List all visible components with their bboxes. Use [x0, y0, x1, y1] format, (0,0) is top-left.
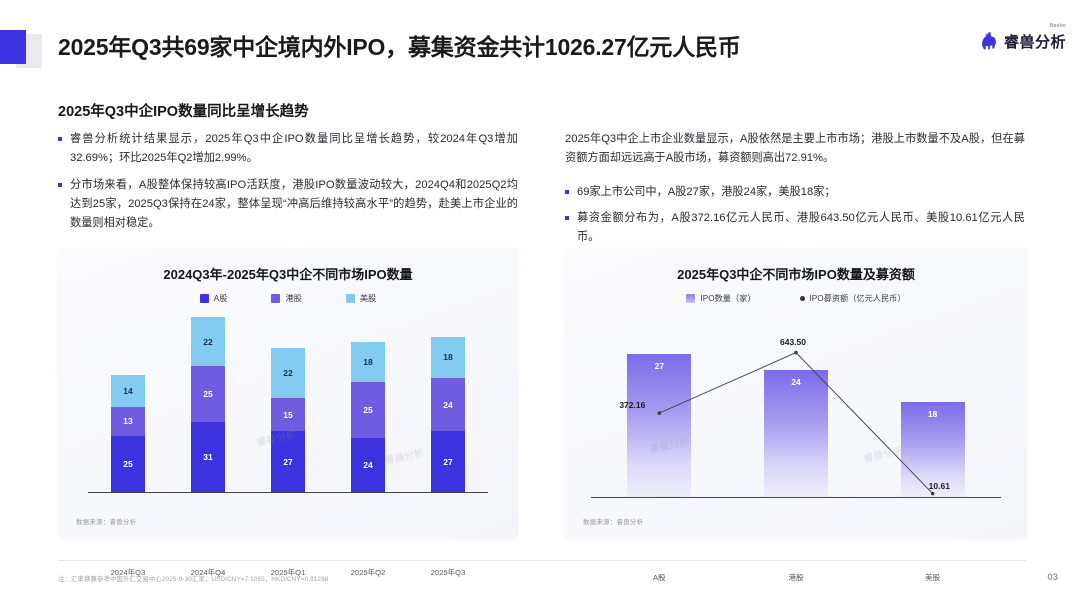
bar-segment[interactable]: 15: [271, 398, 305, 432]
bar-group: 221527: [253, 348, 323, 492]
bar-segment[interactable]: 22: [271, 348, 305, 397]
line-point-value-label: 643.50: [780, 337, 806, 347]
left-text-column: 睿兽分析统计结果显示，2025年Q3中企IPO数量同比呈增长趋势，较2024年Q…: [58, 130, 518, 240]
line-point-value-label: 372.16: [619, 400, 645, 410]
stacked-bar[interactable]: 222531: [191, 317, 225, 492]
brand-logo: Beebo 睿兽分析: [979, 30, 1066, 52]
bar-segment[interactable]: 14: [111, 375, 145, 406]
x-axis-labels: A股港股美股: [591, 572, 1001, 583]
legend-swatch-icon: [686, 294, 695, 303]
legend-item-a-shares[interactable]: A股: [200, 292, 228, 304]
chart-source-left: 数据来源：睿兽分析: [76, 516, 136, 526]
line-point-value-label: 10.61: [929, 481, 950, 491]
bar-segment[interactable]: 22: [191, 317, 225, 366]
bar-group: 141325: [93, 375, 163, 492]
chart-card-ipo-count: 2024Q3年-2025年Q3中企不同市场IPO数量 A股 港股 美股 1413…: [58, 248, 518, 538]
chart-legend-right: IPO数量（家） IPO募资额（亿元人民币）: [565, 292, 1027, 304]
chart-source-right: 数据来源：睿兽分析: [583, 516, 643, 526]
footnote: 注：汇率换算参考中国外汇交易中心2025-9-30汇率，USD/CNY=7.10…: [58, 574, 328, 583]
bar-segment[interactable]: 13: [111, 407, 145, 436]
legend-item-ipo-count[interactable]: IPO数量（家）: [686, 292, 755, 304]
list-item: 分市场来看，A股整体保持较高IPO活跃度，港股IPO数量波动较大，2024Q4和…: [58, 176, 518, 234]
legend-item-ipo-amount[interactable]: IPO募资额（亿元人民币）: [800, 292, 906, 304]
brand-sub-label: Beebo: [1050, 23, 1066, 29]
legend-item-hk-shares[interactable]: 港股: [271, 292, 301, 304]
slide-page: 2025年Q3共69家中企境内外IPO，募集资金共计1026.27亿元人民币 B…: [0, 0, 1080, 608]
bar-group: 27: [613, 354, 705, 497]
bar[interactable]: 24: [764, 370, 828, 497]
beast-logo-icon: [979, 30, 999, 52]
section-heading: 2025年Q3中企IPO数量同比呈增长趋势: [58, 100, 309, 121]
left-bullet-list: 睿兽分析统计结果显示，2025年Q3中企IPO数量同比呈增长趋势，较2024年Q…: [58, 130, 518, 233]
chart-title-right: 2025年Q3中企不同市场IPO数量及募资额: [565, 264, 1027, 283]
x-axis-line: [88, 492, 488, 493]
brand-name: 睿兽分析: [1004, 34, 1066, 51]
bar-group: 24: [750, 370, 842, 497]
x-axis-tick-label: 美股: [887, 572, 979, 583]
stacked-bar[interactable]: 182524: [351, 342, 385, 492]
legend-label: 美股: [360, 292, 376, 304]
footer-divider: [58, 560, 1026, 561]
right-bullet-list: 69家上市公司中，A股27家，港股24家，美股18家； 募资金额分布为，A股37…: [565, 183, 1025, 248]
legend-label: IPO数量（家）: [700, 292, 755, 304]
bar-segment[interactable]: 27: [271, 431, 305, 492]
bar-value-label: 18: [901, 409, 965, 419]
stacked-bar[interactable]: 141325: [111, 375, 145, 492]
page-number: 03: [1047, 572, 1058, 583]
bar-group: 222531: [173, 317, 243, 492]
bar-segment[interactable]: 18: [431, 337, 465, 377]
list-item: 69家上市公司中，A股27家，港股24家，美股18家；: [565, 183, 1025, 202]
bar-segment[interactable]: 31: [191, 422, 225, 492]
plot-area-left: 141325222531221527182524182427 2024年Q320…: [88, 318, 488, 493]
accent-square-blue: [0, 30, 26, 64]
bar-group: 182524: [333, 342, 403, 492]
legend-label: 港股: [285, 292, 301, 304]
chart-card-ipo-amount: 2025年Q3中企不同市场IPO数量及募资额 IPO数量（家） IPO募资额（亿…: [565, 248, 1027, 538]
chart-legend-left: A股 港股 美股: [58, 292, 518, 304]
bar-segment[interactable]: 18: [351, 342, 385, 382]
list-item: 募资金额分布为，A股372.16亿元人民币、港股643.50亿元人民币、美股10…: [565, 209, 1025, 248]
legend-swatch-icon: [346, 294, 355, 303]
legend-swatch-icon: [200, 294, 209, 303]
chart-title-left: 2024Q3年-2025年Q3中企不同市场IPO数量: [58, 264, 518, 283]
page-header: 2025年Q3共69家中企境内外IPO，募集资金共计1026.27亿元人民币 B…: [0, 22, 1080, 76]
stacked-bar[interactable]: 221527: [271, 348, 305, 492]
legend-swatch-icon: [271, 294, 280, 303]
bar-value-label: 24: [764, 377, 828, 387]
bar-segment[interactable]: 24: [431, 378, 465, 432]
bar-value-label: 27: [627, 361, 691, 371]
x-axis-tick-label: A股: [613, 572, 705, 583]
legend-label: A股: [214, 292, 228, 304]
x-axis-line: [591, 497, 1001, 498]
right-lead-paragraph: 2025年Q3中企上市企业数量显示，A股依然是主要上市市场；港股上市数量不及A股…: [565, 130, 1025, 169]
list-item: 睿兽分析统计结果显示，2025年Q3中企IPO数量同比呈增长趋势，较2024年Q…: [58, 130, 518, 169]
plot-area-right: 272418 372.16643.5010.61 A股港股美股 睿兽分析 睿兽分…: [591, 318, 1001, 498]
legend-dot-icon: [800, 296, 805, 301]
page-title: 2025年Q3共69家中企境内外IPO，募集资金共计1026.27亿元人民币: [58, 28, 741, 62]
legend-item-us-shares[interactable]: 美股: [346, 292, 376, 304]
x-axis-tick-label: 2025年Q2: [333, 567, 403, 578]
bar[interactable]: 27: [627, 354, 691, 497]
bar-group: 182427: [413, 337, 483, 492]
right-text-column: 2025年Q3中企上市企业数量显示，A股依然是主要上市市场；港股上市数量不及A股…: [565, 130, 1025, 254]
stacked-bars-container: 141325222531221527182524182427: [88, 318, 488, 492]
stacked-bar[interactable]: 182427: [431, 337, 465, 492]
legend-label: IPO募资额（亿元人民币）: [810, 292, 906, 304]
accent-marker: [0, 30, 52, 70]
bar-segment[interactable]: 25: [111, 436, 145, 492]
x-axis-tick-label: 港股: [750, 572, 842, 583]
bar-segment[interactable]: 27: [431, 431, 465, 492]
x-axis-tick-label: 2025年Q3: [413, 567, 483, 578]
bar-segment[interactable]: 25: [351, 382, 385, 438]
bar-segment[interactable]: 24: [351, 438, 385, 492]
bar-segment[interactable]: 25: [191, 366, 225, 422]
